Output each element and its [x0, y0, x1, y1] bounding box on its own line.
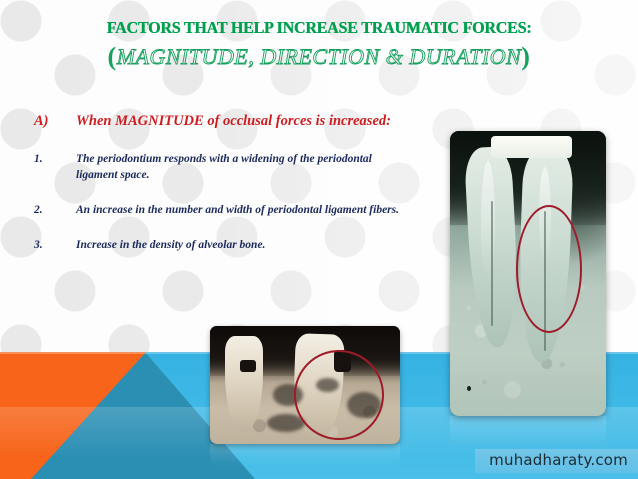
list-item: 3. Increase in the density of alveolar b… — [34, 238, 414, 254]
list-item: 2. An increase in the number and width o… — [34, 203, 414, 219]
radiograph-large-restoration — [491, 136, 572, 158]
radiograph-small — [210, 326, 400, 444]
list-item-text: An increase in the number and width of p… — [76, 203, 414, 219]
slide-body: A) When MAGNITUDE of occlusal forces is … — [34, 112, 414, 272]
section-heading-text: When MAGNITUDE of occlusal forces is inc… — [76, 112, 414, 131]
slide-title: FACTORS THAT HELP INCREASE TRAUMATIC FOR… — [0, 18, 638, 72]
list-item-marker: 1. — [34, 152, 76, 168]
list-item-marker: 2. — [34, 203, 76, 219]
section-heading-marker: A) — [34, 112, 76, 131]
radiograph-large-root-canal-mesial — [491, 201, 493, 326]
list-item-text: The periodontium responds with a widenin… — [76, 152, 414, 184]
subtitle-close-paren: ) — [521, 42, 530, 71]
title-line-subtitle: (MAGNITUDE, DIRECTION & DURATION) — [0, 42, 638, 72]
list-item: 1. The periodontium responds with a wide… — [34, 152, 414, 184]
subtitle-text: MAGNITUDE, DIRECTION & DURATION — [117, 44, 522, 69]
radiograph-small-annotation-circle — [294, 350, 384, 440]
list-item-marker: 3. — [34, 238, 76, 254]
watermark: muhadharaty.com — [475, 449, 638, 473]
radiograph-small-crown-notch-left — [240, 360, 255, 372]
radiograph-large — [450, 131, 606, 416]
subtitle-open-paren: ( — [108, 42, 117, 71]
title-line-primary: FACTORS THAT HELP INCREASE TRAUMATIC FOR… — [10, 18, 629, 38]
list-item-text: Increase in the density of alveolar bone… — [76, 238, 414, 254]
section-heading: A) When MAGNITUDE of occlusal forces is … — [34, 112, 414, 131]
slide-canvas: FACTORS THAT HELP INCREASE TRAUMATIC FOR… — [0, 0, 638, 479]
radiograph-large-annotation-ellipse — [516, 205, 582, 333]
